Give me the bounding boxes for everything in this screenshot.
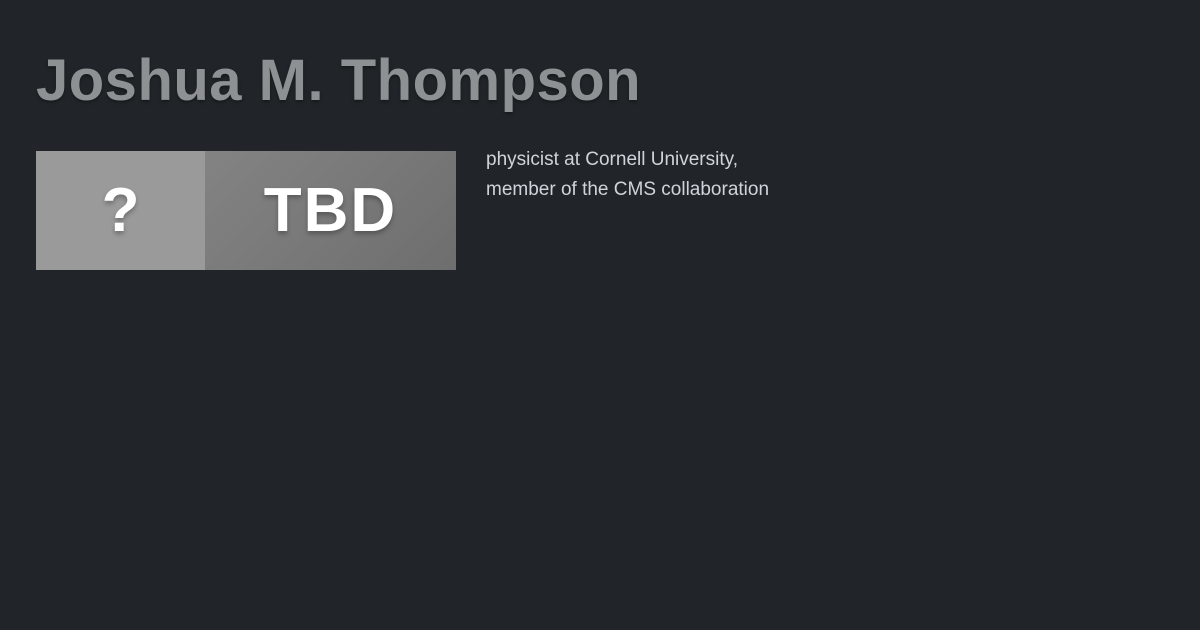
placeholder-left-panel: ?	[36, 151, 205, 270]
page-title: Joshua M. Thompson	[36, 45, 641, 117]
profile-preview-card: Joshua M. Thompson ? TBD physicist at Co…	[0, 0, 1200, 630]
description-line-2: member of the CMS collaboration	[486, 175, 1126, 205]
content-row: ? TBD physicist at Cornell University, m…	[36, 151, 1176, 291]
description-line-1: physicist at Cornell University,	[486, 145, 1126, 175]
profile-image-placeholder: ? TBD	[36, 151, 456, 270]
question-mark-icon: ?	[102, 180, 140, 242]
placeholder-right-panel: TBD	[205, 151, 456, 270]
tbd-label: TBD	[264, 180, 397, 242]
profile-description: physicist at Cornell University, member …	[486, 145, 1126, 205]
